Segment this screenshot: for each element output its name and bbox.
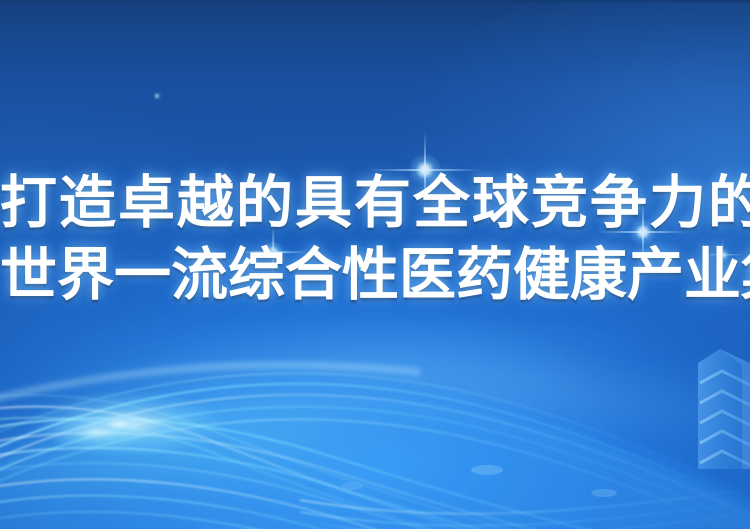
headline-line-1: 打造卓越的具有全球竞争力的 [0, 168, 750, 238]
headline-line-2: 世界一流综合性医药健康产业集团 [0, 238, 750, 312]
promo-banner: 打造卓越的具有全球竞争力的 世界一流综合性医药健康产业集团 [0, 0, 750, 529]
headline-block: 打造卓越的具有全球竞争力的 世界一流综合性医药健康产业集团 [0, 168, 750, 312]
